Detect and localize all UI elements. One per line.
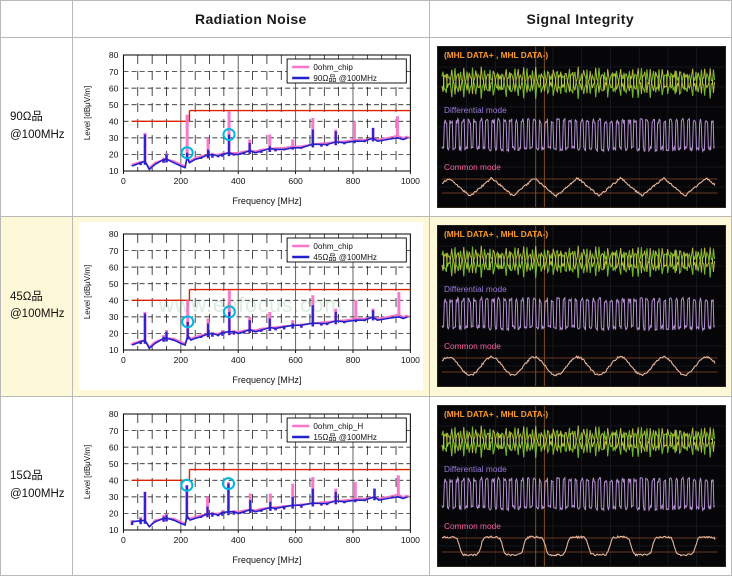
svg-text:40: 40 <box>109 475 119 485</box>
signal-integrity-cell: (MHL DATA+ , MHL DATA-)Differential mode… <box>429 396 731 575</box>
svg-text:1000: 1000 <box>401 535 420 545</box>
svg-text:60: 60 <box>109 442 119 452</box>
row-label-row-45ohm: 45Ω品@100MHz <box>1 217 73 396</box>
svg-text:400: 400 <box>231 176 246 186</box>
svg-text:20: 20 <box>109 329 119 339</box>
svg-text:600: 600 <box>289 356 304 366</box>
svg-text:1000: 1000 <box>401 356 420 366</box>
header-blank <box>1 1 73 38</box>
svg-text:50: 50 <box>109 459 119 469</box>
radiation-noise-cell: 102030405060708002004006008001000Frequen… <box>73 396 429 575</box>
svg-text:200: 200 <box>174 535 189 545</box>
svg-text:0ohm_chip: 0ohm_chip <box>313 243 353 252</box>
svg-text:20: 20 <box>109 508 119 518</box>
svg-text:0ohm_chip: 0ohm_chip <box>313 63 353 72</box>
radiation-noise-cell: 102030405060708002004006008001000Frequen… <box>73 217 429 396</box>
svg-text:Common mode: Common mode <box>444 341 501 351</box>
svg-text:1000: 1000 <box>401 176 420 186</box>
svg-text:Level [dBμV/m]: Level [dBμV/m] <box>83 86 92 140</box>
svg-text:60: 60 <box>109 263 119 273</box>
row-label-line1: 90Ω品 <box>10 109 72 127</box>
row-label-row-90ohm: 90Ω品@100MHz <box>1 38 73 217</box>
radiation-noise-cell: 102030405060708002004006008001000Frequen… <box>73 38 429 217</box>
comparison-matrix: Radiation Noise Signal Integrity 90Ω品@10… <box>0 0 732 576</box>
svg-text:30: 30 <box>109 313 119 323</box>
svg-text:90Ω品 @100MHz: 90Ω品 @100MHz <box>313 74 377 83</box>
svg-text:0: 0 <box>121 535 126 545</box>
svg-text:50: 50 <box>109 100 119 110</box>
row-label-line2: @100MHz <box>10 486 72 504</box>
svg-text:400: 400 <box>231 356 246 366</box>
svg-text:200: 200 <box>174 176 189 186</box>
matrix-row: 90Ω品@100MHz10203040506070800200400600800… <box>1 38 732 217</box>
svg-text:400: 400 <box>231 535 246 545</box>
svg-text:80: 80 <box>109 409 119 419</box>
svg-text:70: 70 <box>109 426 119 436</box>
svg-text:Level [dBμV/m]: Level [dBμV/m] <box>83 445 92 499</box>
svg-text:(MHL DATA+ , MHL DATA-): (MHL DATA+ , MHL DATA-) <box>444 409 548 419</box>
svg-text:10: 10 <box>109 346 119 356</box>
signal-integrity-cell: (MHL DATA+ , MHL DATA-)Differential mode… <box>429 217 731 396</box>
svg-text:45Ω品 @100MHz: 45Ω品 @100MHz <box>313 254 377 263</box>
radiation-noise-chart: 102030405060708002004006008001000Frequen… <box>79 43 422 211</box>
svg-text:Frequency [MHz]: Frequency [MHz] <box>232 376 301 386</box>
svg-text:10: 10 <box>109 166 119 176</box>
svg-text:50: 50 <box>109 279 119 289</box>
header-row: Radiation Noise Signal Integrity <box>1 1 732 38</box>
radiation-noise-chart: 102030405060708002004006008001000Frequen… <box>79 402 422 570</box>
svg-text:800: 800 <box>346 176 361 186</box>
row-label-line1: 45Ω品 <box>10 289 72 307</box>
svg-text:30: 30 <box>109 133 119 143</box>
oscilloscope-capture: (MHL DATA+ , MHL DATA-)Differential mode… <box>437 225 726 387</box>
svg-text:20: 20 <box>109 150 119 160</box>
row-label-line1: 15Ω品 <box>10 468 72 486</box>
svg-text:Level [dBμV/m]: Level [dBμV/m] <box>83 265 92 319</box>
svg-text:600: 600 <box>289 535 304 545</box>
svg-text:Frequency [MHz]: Frequency [MHz] <box>232 555 301 565</box>
matrix-row: 15Ω品@100MHz10203040506070800200400600800… <box>1 396 732 575</box>
oscilloscope-capture: (MHL DATA+ , MHL DATA-)Differential mode… <box>437 405 726 567</box>
svg-text:80: 80 <box>109 230 119 240</box>
svg-text:10: 10 <box>109 525 119 535</box>
svg-text:70: 70 <box>109 246 119 256</box>
svg-text:0ohm_chip_H: 0ohm_chip_H <box>313 422 363 431</box>
svg-text:800: 800 <box>346 535 361 545</box>
row-label-line2: @100MHz <box>10 127 72 145</box>
svg-text:Common mode: Common mode <box>444 521 501 531</box>
svg-text:Differential mode: Differential mode <box>444 284 507 294</box>
svg-text:600: 600 <box>289 176 304 186</box>
svg-text:40: 40 <box>109 296 119 306</box>
signal-integrity-cell: (MHL DATA+ , MHL DATA-)Differential mode… <box>429 38 731 217</box>
svg-text:Common mode: Common mode <box>444 162 501 172</box>
svg-text:60: 60 <box>109 84 119 94</box>
svg-text:(MHL DATA+ , MHL DATA-): (MHL DATA+ , MHL DATA-) <box>444 50 548 60</box>
svg-text:(MHL DATA+ , MHL DATA-): (MHL DATA+ , MHL DATA-) <box>444 229 548 239</box>
matrix-row: 45Ω品@100MHz10203040506070800200400600800… <box>1 217 732 396</box>
svg-text:Differential mode: Differential mode <box>444 464 507 474</box>
svg-text:0: 0 <box>121 356 126 366</box>
radiation-noise-chart: 102030405060708002004006008001000Frequen… <box>79 222 422 390</box>
oscilloscope-capture: (MHL DATA+ , MHL DATA-)Differential mode… <box>437 46 726 208</box>
svg-text:30: 30 <box>109 492 119 502</box>
row-label-line2: @100MHz <box>10 306 72 324</box>
row-label-row-15ohm: 15Ω品@100MHz <box>1 396 73 575</box>
svg-text:200: 200 <box>174 356 189 366</box>
header-signal-integrity: Signal Integrity <box>429 1 731 38</box>
svg-text:0: 0 <box>121 176 126 186</box>
svg-text:80: 80 <box>109 50 119 60</box>
svg-text:Differential mode: Differential mode <box>444 105 507 115</box>
svg-text:70: 70 <box>109 67 119 77</box>
svg-text:800: 800 <box>346 356 361 366</box>
header-radiation-noise: Radiation Noise <box>73 1 429 38</box>
svg-text:Frequency [MHz]: Frequency [MHz] <box>232 196 301 206</box>
svg-text:15Ω品 @100MHz: 15Ω品 @100MHz <box>313 433 377 442</box>
svg-text:40: 40 <box>109 117 119 127</box>
